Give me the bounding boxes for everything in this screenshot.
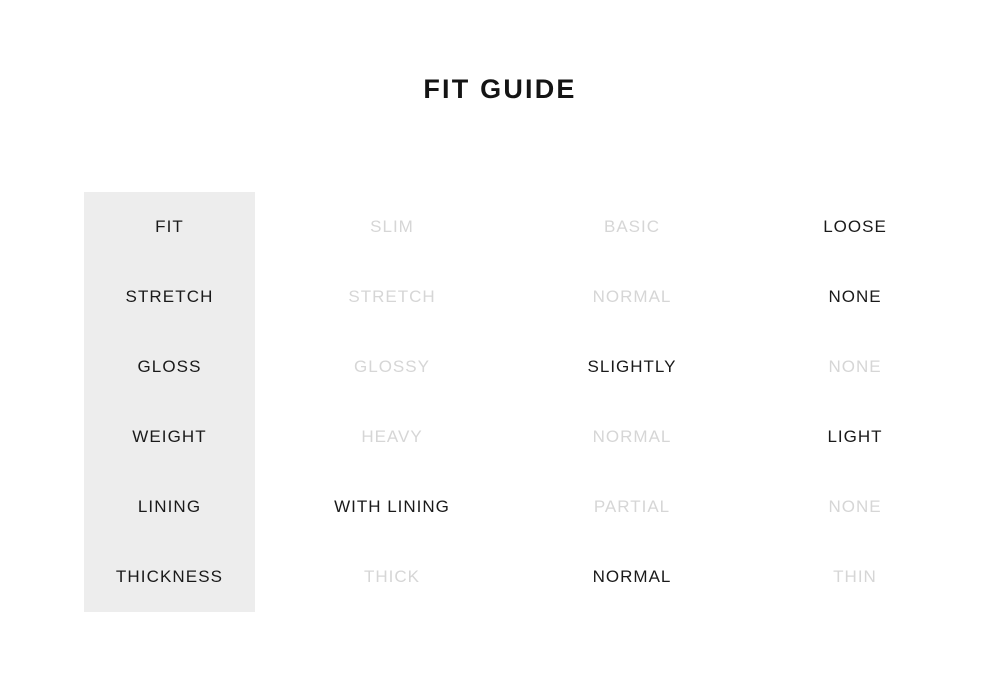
option-gloss-1[interactable]: GLOSSY <box>292 332 492 402</box>
option-stretch-2[interactable]: NORMAL <box>532 262 732 332</box>
option-lining-1[interactable]: WITH LINING <box>292 472 492 542</box>
table-row: WEIGHT HEAVY NORMAL LIGHT <box>0 402 1000 472</box>
row-label-stretch: STRETCH <box>84 262 255 332</box>
option-thickness-3[interactable]: THIN <box>755 542 955 612</box>
table-row: LINING WITH LINING PARTIAL NONE <box>0 472 1000 542</box>
table-row: STRETCH STRETCH NORMAL NONE <box>0 262 1000 332</box>
option-stretch-1[interactable]: STRETCH <box>292 262 492 332</box>
option-lining-3[interactable]: NONE <box>755 472 955 542</box>
page-title: FIT GUIDE <box>0 70 1000 108</box>
fit-guide-page: FIT GUIDE FIT SLIM BASIC LOOSE STRETCH S… <box>0 0 1000 696</box>
option-weight-2[interactable]: NORMAL <box>532 402 732 472</box>
option-gloss-3[interactable]: NONE <box>755 332 955 402</box>
option-fit-1[interactable]: SLIM <box>292 192 492 262</box>
option-weight-1[interactable]: HEAVY <box>292 402 492 472</box>
row-label-fit: FIT <box>84 192 255 262</box>
option-gloss-2[interactable]: SLIGHTLY <box>532 332 732 402</box>
option-thickness-2[interactable]: NORMAL <box>532 542 732 612</box>
table-row: GLOSS GLOSSY SLIGHTLY NONE <box>0 332 1000 402</box>
option-lining-2[interactable]: PARTIAL <box>532 472 732 542</box>
table-row: THICKNESS THICK NORMAL THIN <box>0 542 1000 612</box>
row-label-weight: WEIGHT <box>84 402 255 472</box>
table-row: FIT SLIM BASIC LOOSE <box>0 192 1000 262</box>
row-label-gloss: GLOSS <box>84 332 255 402</box>
option-weight-3[interactable]: LIGHT <box>755 402 955 472</box>
option-fit-2[interactable]: BASIC <box>532 192 732 262</box>
fit-guide-table: FIT SLIM BASIC LOOSE STRETCH STRETCH NOR… <box>0 192 1000 612</box>
table-rows: FIT SLIM BASIC LOOSE STRETCH STRETCH NOR… <box>0 192 1000 612</box>
row-label-lining: LINING <box>84 472 255 542</box>
option-stretch-3[interactable]: NONE <box>755 262 955 332</box>
option-fit-3[interactable]: LOOSE <box>755 192 955 262</box>
option-thickness-1[interactable]: THICK <box>292 542 492 612</box>
row-label-thickness: THICKNESS <box>84 542 255 612</box>
